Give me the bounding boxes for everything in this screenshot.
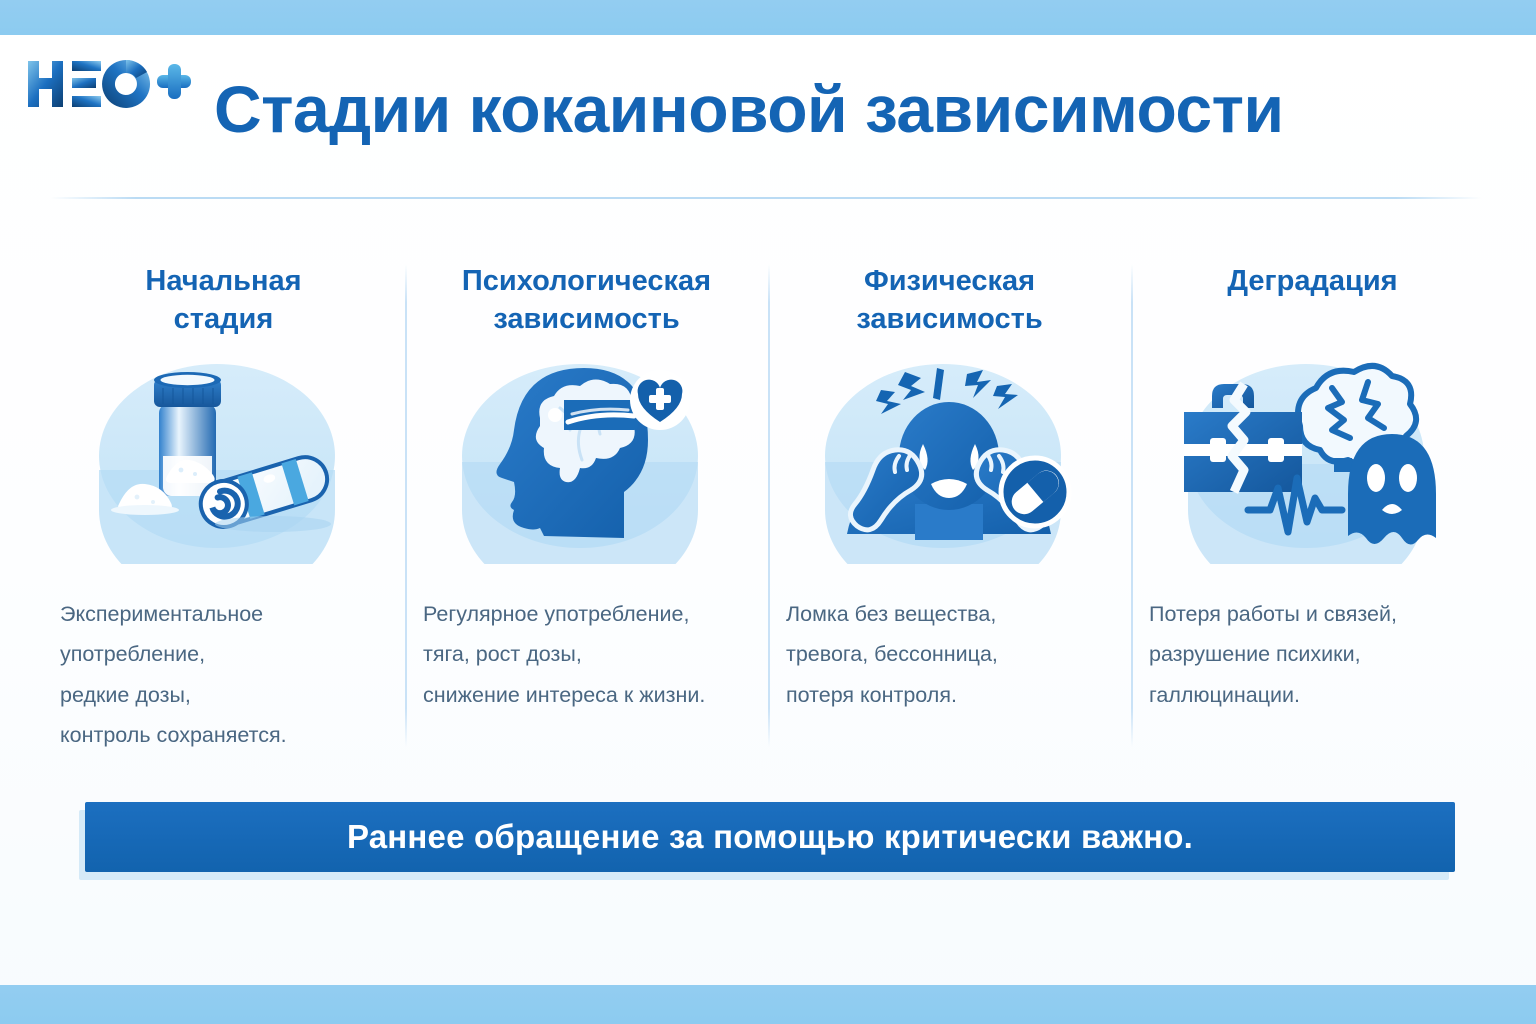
broken-briefcase-brain-ghost-icon [1182,352,1444,564]
stage-description: Регулярное употребление, тяга, рост дозы… [423,594,750,715]
page-title: Стадии кокаиновой зависимости [214,76,1284,143]
banner-text: Раннее обращение за помощью критически в… [347,818,1193,856]
title-divider [50,197,1482,199]
top-accent-band [0,0,1536,35]
stage-heading: Психологическая зависимость [462,262,711,344]
infographic-poster: Стадии кокаиновой зависимости Начальная … [0,0,1536,1024]
cta-banner: Раннее обращение за помощью критически в… [85,802,1455,872]
stage-heading: Деградация [1227,262,1397,344]
bottom-accent-band [0,985,1536,1024]
stages-container: Начальная стадия [42,252,1494,762]
stage-description: Ломка без вещества, тревога, бессонница,… [786,594,1113,715]
stage-heading: Физическая зависимость [856,262,1042,344]
withdrawal-headache-pill-icon [819,352,1081,564]
stage-heading: Начальная стадия [145,262,301,344]
stage-description: Потеря работы и связей, разрушение психи… [1149,594,1476,715]
stage-description: Экспериментальное употребление, редкие д… [60,594,387,756]
head-brain-craving-icon [456,352,718,564]
stage-column-2: Психологическая зависимость [405,252,768,715]
stage-column-3: Физическая зависимость [768,252,1131,715]
brand-logo [24,55,194,113]
powder-jar-and-rolled-note-icon [93,352,355,564]
stage-column-4: Деградация [1131,252,1494,715]
stage-column-1: Начальная стадия [42,252,405,756]
banner-body: Раннее обращение за помощью критически в… [85,802,1455,872]
